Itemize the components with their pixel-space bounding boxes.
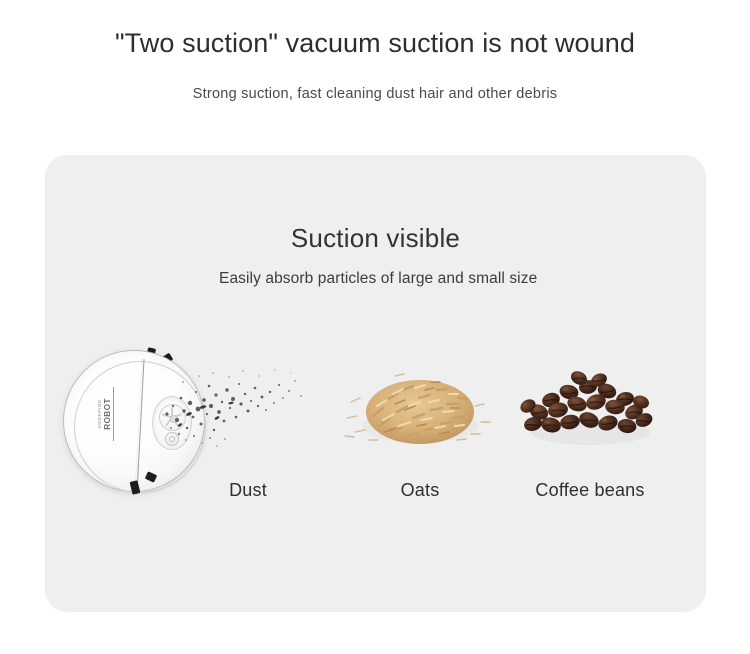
page-subheadline: Strong suction, fast cleaning dust hair … [0, 86, 750, 102]
sample-label-coffee-beans: Coffee beans [495, 480, 685, 501]
coffee-beans-visual [495, 340, 685, 475]
dust-cloud-icon [153, 340, 343, 475]
sample-item-oats: Oats [325, 340, 515, 525]
sample-item-dust: Dust [153, 340, 343, 525]
page-headline: "Two suction" vacuum suction is not woun… [0, 28, 750, 59]
oats-pile-icon [325, 340, 515, 475]
sample-label-dust: Dust [153, 480, 343, 501]
feature-card: Suction visible Easily absorb particles … [45, 155, 706, 612]
sample-item-coffee-beans: Coffee beans [495, 340, 685, 525]
card-title: Suction visible [45, 223, 706, 254]
coffee-beans-icon [495, 340, 685, 475]
card-subtitle: Easily absorb particles of large and sma… [219, 269, 549, 288]
samples-row: Dust [45, 340, 706, 525]
sample-label-oats: Oats [325, 480, 515, 501]
oats-visual [325, 340, 515, 475]
dust-visual [153, 340, 343, 475]
